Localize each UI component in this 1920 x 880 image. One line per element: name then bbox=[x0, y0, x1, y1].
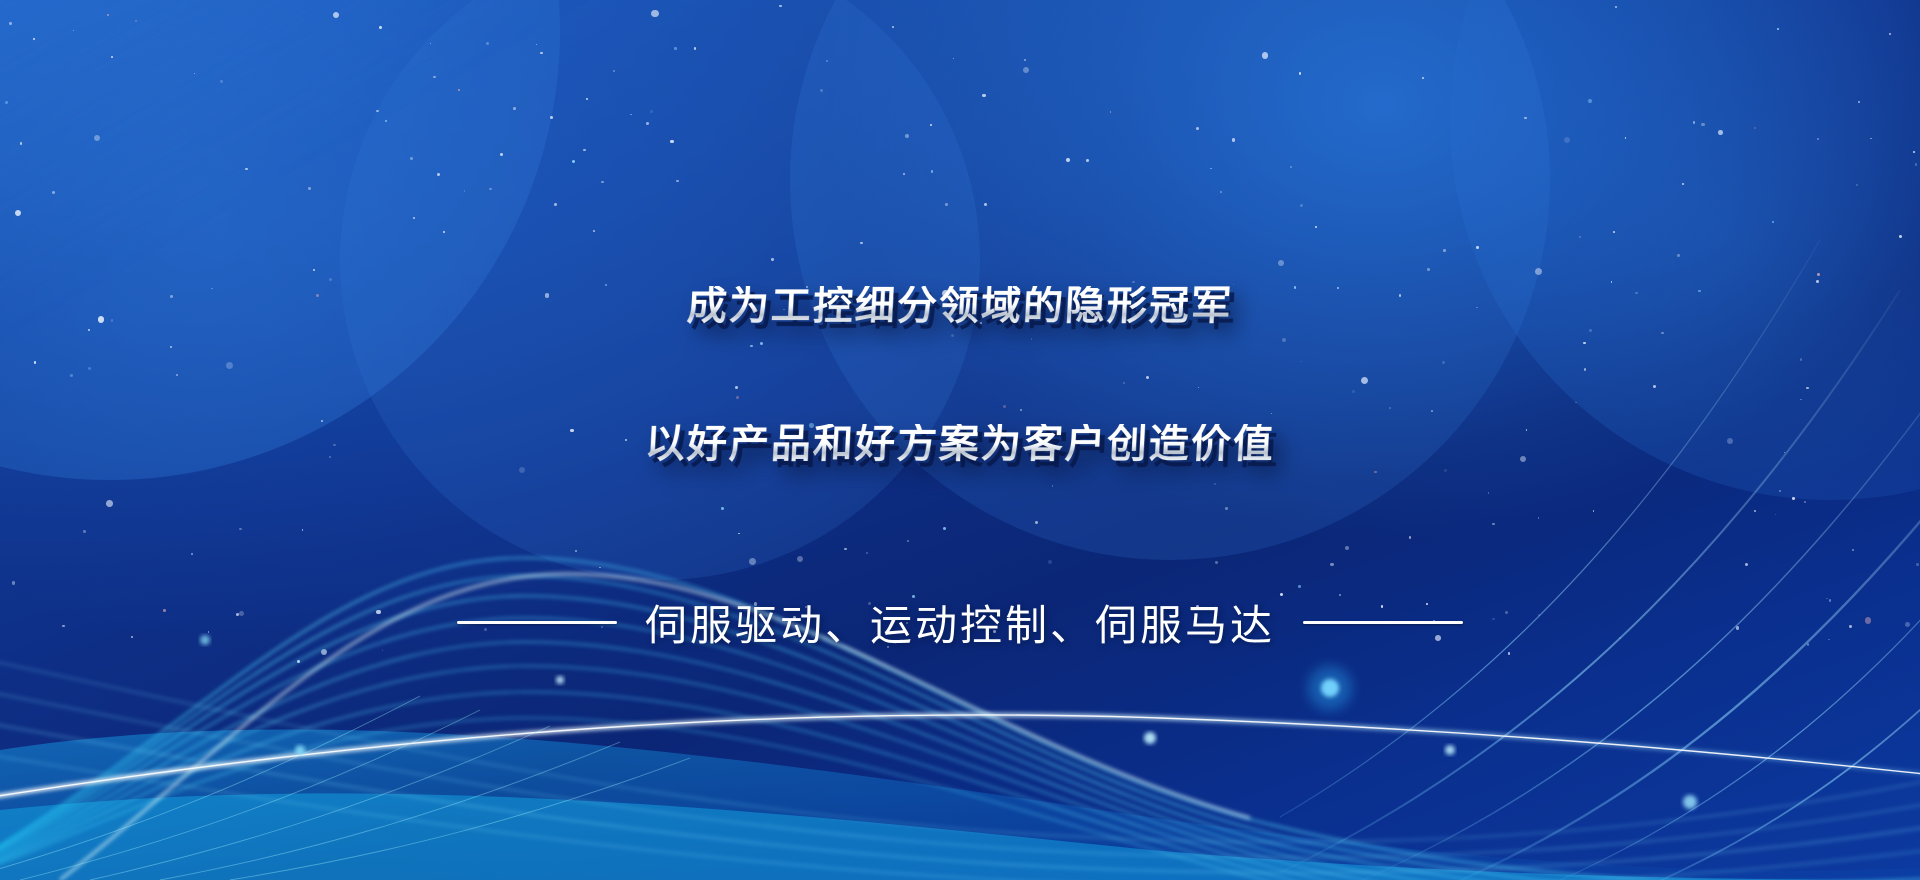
headline-line-2: 以好产品和好方案为客户创造价值 bbox=[0, 424, 1920, 464]
headline-line-1: 成为工控细分领域的隐形冠军 bbox=[0, 286, 1920, 326]
subtitle-text: 伺服驱动、运动控制、伺服马达 bbox=[645, 592, 1275, 653]
subtitle-rule-left bbox=[457, 621, 617, 624]
subtitle-rule-right bbox=[1303, 621, 1463, 624]
banner-content: 成为工控细分领域的隐形冠军 以好产品和好方案为客户创造价值 伺服驱动、运动控制、… bbox=[0, 0, 1920, 880]
subtitle-row: 伺服驱动、运动控制、伺服马达 bbox=[0, 592, 1920, 653]
hero-banner: 成为工控细分领域的隐形冠军 以好产品和好方案为客户创造价值 伺服驱动、运动控制、… bbox=[0, 0, 1920, 880]
